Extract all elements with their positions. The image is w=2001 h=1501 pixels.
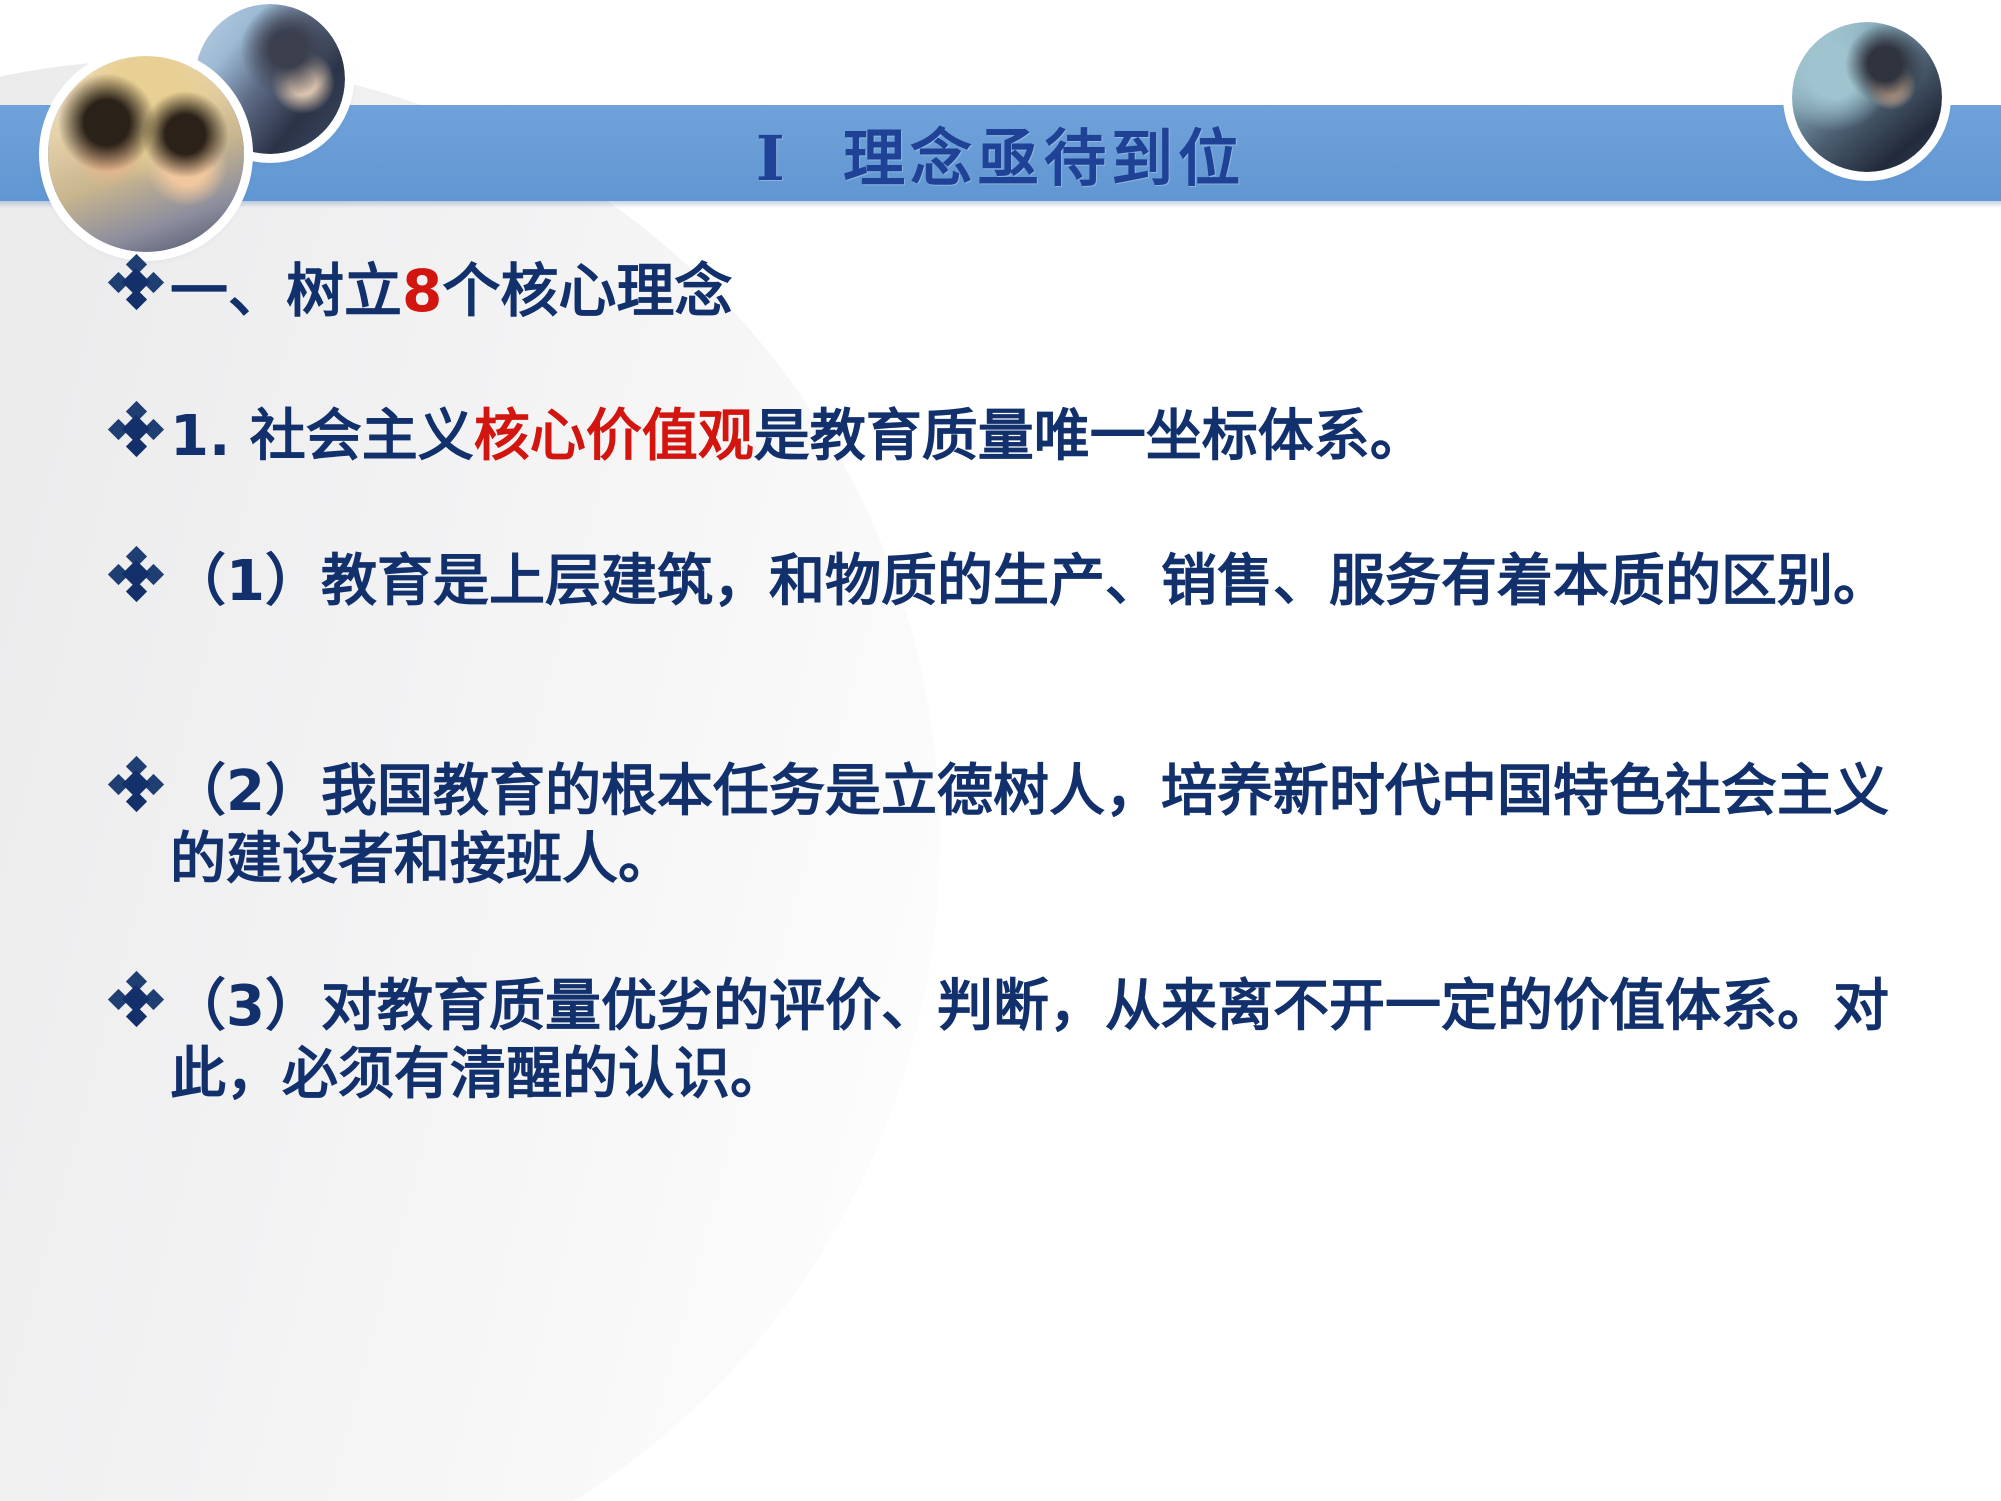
list-item: （2）我国教育的根本任务是立德树人，培养新时代中国特色社会主义的建设者和接班人。 (110, 758, 1940, 895)
title-banner-shadow (0, 201, 2001, 208)
diamond-bullet-icon (110, 548, 162, 600)
bullet-point-1-text: 1. 社会主义核心价值观是教育质量唯一坐标体系。 (170, 403, 1426, 471)
bullet-point-1-3-text: （3）对教育质量优劣的评价、判断，从来离不开一定的价值体系。对此，必须有清醒的认… (170, 973, 1940, 1110)
diamond-bullet-icon (110, 973, 162, 1025)
diamond-bullet-icon (110, 758, 162, 810)
photo-b-image (48, 56, 244, 252)
photo-c-image (1792, 22, 1942, 172)
diamond-bullet-icon (110, 256, 162, 308)
list-item: 1. 社会主义核心价值观是教育质量唯一坐标体系。 (110, 403, 1920, 471)
slide-canvas: I 理念亟待到位 一、树立8个核心理念 1. 社会主义核心价值观是教育质量唯一坐… (0, 0, 2001, 1501)
diamond-bullet-icon (110, 403, 162, 455)
bullet-heading-text: 一、树立8个核心理念 (170, 256, 732, 327)
bullet-point-1-1-text: （1）教育是上层建筑，和物质的生产、销售、服务有着本质的区别。 (170, 548, 1889, 616)
list-item: （3）对教育质量优劣的评价、判断，从来离不开一定的价值体系。对此，必须有清醒的认… (110, 973, 1940, 1110)
presenter-at-whiteboard-photo (1792, 22, 1942, 172)
list-item: （1）教育是上层建筑，和物质的生产、销售、服务有着本质的区别。 (110, 548, 1940, 616)
two-men-at-laptop-photo (48, 56, 244, 252)
list-item: 一、树立8个核心理念 (110, 256, 732, 327)
bullet-point-1-2-text: （2）我国教育的根本任务是立德树人，培养新时代中国特色社会主义的建设者和接班人。 (170, 758, 1940, 895)
